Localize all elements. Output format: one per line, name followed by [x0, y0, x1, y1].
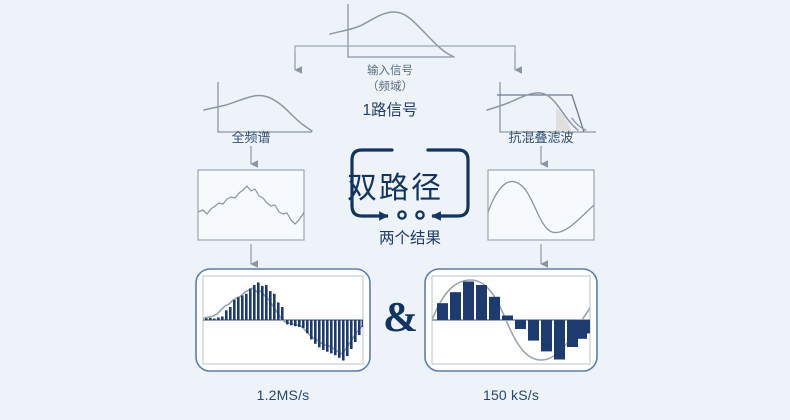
high-rate-panel: [196, 269, 370, 371]
anti-alias-filter-plot: [487, 82, 596, 132]
stream-count-label: 1路信号: [330, 101, 450, 120]
ampersand-operator: &: [383, 297, 418, 339]
result-dot-left: [398, 211, 405, 218]
result-dot-right: [416, 211, 423, 218]
input-signal-plot: [330, 4, 454, 57]
input-signal-caption-line2: （频域）: [330, 80, 450, 94]
diagram-canvas: 输入信号 （频域） 1路信号 全频谱 抗混叠滤波 双路径 两个结果 & 1.2M…: [0, 0, 790, 420]
high-rate-label: 1.2MS/s: [203, 387, 363, 405]
low-rate-label: 150 kS/s: [432, 387, 590, 405]
full-spectrum-caption: 全频谱: [201, 130, 301, 146]
full-spectrum-plot: [204, 82, 312, 132]
low-rate-panel: [425, 269, 597, 371]
anti-alias-filter-caption: 抗混叠滤波: [486, 130, 596, 146]
dual-path-badge-label: 双路径: [0, 163, 790, 207]
input-signal-caption-line1: 输入信号: [330, 64, 450, 78]
two-results-label: 两个结果: [350, 229, 470, 248]
diagram-vector-layer: [0, 0, 790, 420]
